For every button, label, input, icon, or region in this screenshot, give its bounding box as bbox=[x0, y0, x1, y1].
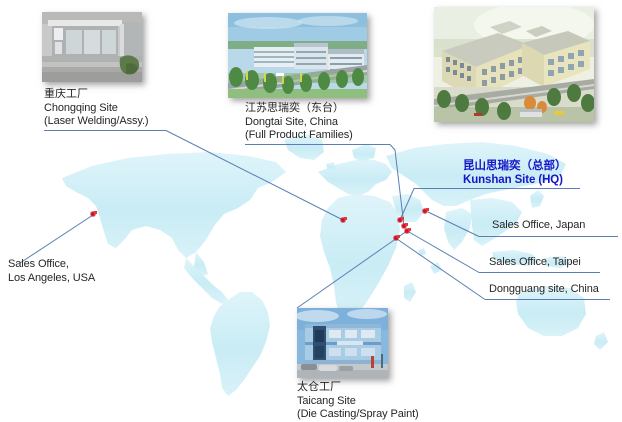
site-map-canvas: 重庆工厂 Chongqing Site (Laser Welding/Assy.… bbox=[0, 0, 622, 418]
leader-dongtai bbox=[390, 145, 404, 227]
leader-taicang bbox=[297, 231, 407, 308]
kunshan-name-en: Kunshan Site (HQ) bbox=[463, 173, 567, 187]
kunshan-site-photo bbox=[434, 7, 594, 122]
los-angeles-line2: Los Angeles, USA bbox=[8, 272, 95, 286]
leader-dongguang bbox=[397, 239, 485, 300]
taicang-name-en: Taicang Site bbox=[297, 395, 419, 409]
label-los-angeles: Sales Office, Los Angeles, USA bbox=[8, 258, 95, 285]
dongtai-name-en: Dongtai Site, China bbox=[245, 116, 353, 130]
leader-kunshan bbox=[400, 189, 424, 221]
los-angeles-line1: Sales Office, bbox=[8, 258, 95, 272]
taicang-name-cn: 太仓工厂 bbox=[297, 381, 419, 395]
label-kunshan-hq: 昆山思瑞奕（总部） Kunshan Site (HQ) bbox=[463, 159, 567, 187]
dongtai-detail: (Full Product Families) bbox=[245, 129, 353, 143]
chongqing-name-en: Chongqing Site bbox=[44, 102, 148, 116]
marker-los-angeles bbox=[90, 211, 97, 218]
label-chongqing: 重庆工厂 Chongqing Site (Laser Welding/Assy.… bbox=[44, 88, 148, 129]
marker-taipei bbox=[404, 228, 411, 235]
marker-japan bbox=[422, 208, 429, 215]
marker-dongguang bbox=[393, 235, 400, 242]
leader-chongqing bbox=[166, 131, 343, 221]
label-dongtai: 江苏思瑞奕（东台） Dongtai Site, China (Full Prod… bbox=[245, 102, 353, 143]
dongtai-site-photo bbox=[228, 13, 367, 98]
marker-chongqing bbox=[340, 217, 347, 224]
label-sales-office-japan: Sales Office, Japan bbox=[492, 219, 585, 231]
kunshan-name-cn: 昆山思瑞奕（总部） bbox=[463, 159, 567, 173]
taicang-detail: (Die Casting/Spray Paint) bbox=[297, 408, 419, 422]
chongqing-site-photo bbox=[42, 12, 142, 82]
dongtai-name-cn: 江苏思瑞奕（东台） bbox=[245, 102, 353, 116]
label-dongguang-site: Dongguang site, China bbox=[489, 283, 599, 295]
label-sales-office-taipei: Sales Office, Taipei bbox=[489, 256, 581, 268]
leader-los-angeles bbox=[20, 215, 93, 263]
leader-japan bbox=[428, 212, 479, 237]
leader-taipei bbox=[409, 232, 479, 273]
chongqing-detail: (Laser Welding/Assy.) bbox=[44, 115, 148, 129]
taicang-site-photo bbox=[297, 308, 388, 378]
chongqing-name-cn: 重庆工厂 bbox=[44, 88, 148, 102]
label-taicang: 太仓工厂 Taicang Site (Die Casting/Spray Pai… bbox=[297, 381, 419, 422]
